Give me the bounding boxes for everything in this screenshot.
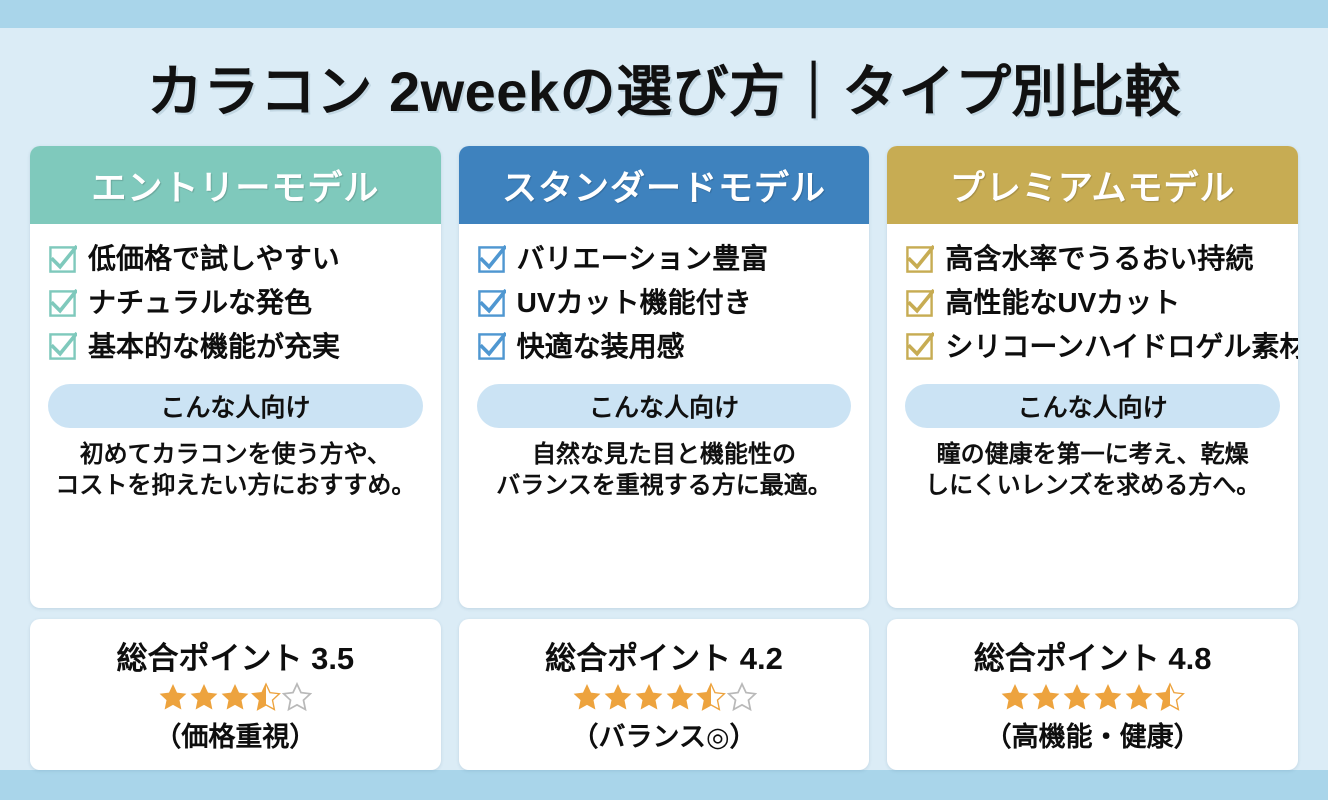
- model-card-body: バリエーション豊富UVカット機能付き快適な装用感こんな人向け自然な見た目と機能性…: [459, 224, 870, 608]
- audience-pill-label: こんな人向け: [589, 388, 739, 424]
- feature-item: 低価格で試しやすい: [48, 244, 423, 275]
- model-card-title: スタンダードモデル: [502, 160, 826, 211]
- checkbox-checked-icon: [48, 332, 77, 361]
- star-icon-full: [634, 682, 664, 712]
- checkbox-checked-icon: [477, 245, 506, 274]
- star-rating: [469, 682, 860, 712]
- star-icon-full: [1124, 682, 1154, 712]
- audience-description-line: 初めてカラコンを使う方や、: [48, 440, 423, 470]
- star-icon-full: [220, 682, 250, 712]
- poster-inner: カラコン 2weekの選び方｜タイプ別比較 エントリーモデル低価格で試しやすいナ…: [0, 28, 1328, 770]
- checkbox-checked-icon: [48, 289, 77, 318]
- star-icon-full: [572, 682, 602, 712]
- score-title: 総合ポイント 4.2: [469, 633, 860, 678]
- model-card[interactable]: エントリーモデル低価格で試しやすいナチュラルな発色基本的な機能が充実こんな人向け…: [30, 146, 441, 608]
- checkbox-checked-icon: [477, 289, 506, 318]
- page-title: カラコン 2weekの選び方｜タイプ別比較: [147, 47, 1181, 128]
- feature-label: シリコーンハイドロゲル素材: [945, 332, 1298, 363]
- feature-list: バリエーション豊富UVカット機能付き快適な装用感: [477, 244, 852, 362]
- model-card-header: プレミアムモデル: [887, 146, 1298, 224]
- model-card[interactable]: スタンダードモデルバリエーション豊富UVカット機能付き快適な装用感こんな人向け自…: [459, 146, 870, 608]
- model-card-title: プレミアムモデル: [950, 160, 1236, 211]
- audience-description-line: 瞳の健康を第一に考え、乾燥: [905, 440, 1280, 470]
- checkbox-checked-icon: [477, 332, 506, 361]
- feature-item: 高含水率でうるおい持続: [905, 244, 1280, 275]
- audience-description: 瞳の健康を第一に考え、乾燥しにくいレンズを求める方へ。: [905, 440, 1280, 500]
- audience-description-line: コストを抑えたい方におすすめ。: [48, 471, 423, 501]
- score-note: （価格重視）: [40, 715, 431, 754]
- feature-list: 高含水率でうるおい持続高性能なUVカットシリコーンハイドロゲル素材: [905, 244, 1280, 362]
- feature-item: シリコーンハイドロゲル素材: [905, 332, 1280, 363]
- star-icon-full: [1062, 682, 1092, 712]
- audience-pill: こんな人向け: [48, 384, 423, 428]
- feature-item: バリエーション豊富: [477, 244, 852, 275]
- audience-description-line: 自然な見た目と機能性の: [477, 440, 852, 470]
- comparison-column-1: エントリーモデル低価格で試しやすいナチュラルな発色基本的な機能が充実こんな人向け…: [30, 146, 441, 770]
- audience-description-line: バランスを重視する方に最適。: [477, 471, 852, 501]
- feature-item: 基本的な機能が充実: [48, 332, 423, 363]
- star-rating: [897, 682, 1288, 712]
- score-card[interactable]: 総合ポイント 4.2（バランス◎）: [459, 619, 870, 770]
- feature-label: バリエーション豊富: [517, 244, 768, 275]
- model-card-body: 高含水率でうるおい持続高性能なUVカットシリコーンハイドロゲル素材こんな人向け瞳…: [887, 224, 1298, 608]
- checkbox-checked-icon: [48, 245, 77, 274]
- feature-label: 高含水率でうるおい持続: [945, 244, 1253, 275]
- audience-pill: こんな人向け: [905, 384, 1280, 428]
- star-icon-empty: [727, 682, 757, 712]
- comparison-column-3: プレミアムモデル高含水率でうるおい持続高性能なUVカットシリコーンハイドロゲル素…: [887, 146, 1298, 770]
- checkbox-checked-icon: [905, 289, 934, 318]
- star-icon-full: [1000, 682, 1030, 712]
- audience-pill-label: こんな人向け: [160, 388, 310, 424]
- model-card-header: エントリーモデル: [30, 146, 441, 224]
- star-icon-empty: [282, 682, 312, 712]
- checkbox-checked-icon: [905, 245, 934, 274]
- star-icon-full: [1093, 682, 1123, 712]
- feature-label: 高性能なUVカット: [945, 288, 1180, 319]
- score-title: 総合ポイント 4.8: [897, 633, 1288, 678]
- infographic-poster: カラコン 2weekの選び方｜タイプ別比較 エントリーモデル低価格で試しやすいナ…: [0, 0, 1328, 800]
- audience-pill-label: こんな人向け: [1018, 388, 1168, 424]
- score-card[interactable]: 総合ポイント 4.8（高機能・健康）: [887, 619, 1298, 770]
- feature-label: ナチュラルな発色: [88, 288, 312, 319]
- feature-label: 低価格で試しやすい: [88, 244, 340, 275]
- star-icon-half: [696, 682, 726, 712]
- model-card-body: 低価格で試しやすいナチュラルな発色基本的な機能が充実こんな人向け初めてカラコンを…: [30, 224, 441, 608]
- star-rating: [40, 682, 431, 712]
- star-icon-full: [1031, 682, 1061, 712]
- star-icon-full: [189, 682, 219, 712]
- star-icon-half: [251, 682, 281, 712]
- feature-label: UVカット機能付き: [517, 288, 752, 319]
- checkbox-checked-icon: [905, 332, 934, 361]
- feature-label: 快適な装用感: [517, 332, 685, 363]
- feature-list: 低価格で試しやすいナチュラルな発色基本的な機能が充実: [48, 244, 423, 362]
- model-card-title: エントリーモデル: [91, 160, 379, 211]
- score-title: 総合ポイント 3.5: [40, 633, 431, 678]
- model-card[interactable]: プレミアムモデル高含水率でうるおい持続高性能なUVカットシリコーンハイドロゲル素…: [887, 146, 1298, 608]
- audience-description-line: しにくいレンズを求める方へ。: [905, 471, 1280, 501]
- model-card-header: スタンダードモデル: [459, 146, 870, 224]
- feature-item: 快適な装用感: [477, 332, 852, 363]
- audience-pill: こんな人向け: [477, 384, 852, 428]
- feature-item: 高性能なUVカット: [905, 288, 1280, 319]
- star-icon-full: [665, 682, 695, 712]
- feature-label: 基本的な機能が充実: [88, 332, 340, 363]
- star-icon-full: [603, 682, 633, 712]
- star-icon-full: [158, 682, 188, 712]
- feature-item: UVカット機能付き: [477, 288, 852, 319]
- comparison-column-2: スタンダードモデルバリエーション豊富UVカット機能付き快適な装用感こんな人向け自…: [459, 146, 870, 770]
- score-note: （高機能・健康）: [897, 715, 1288, 754]
- score-card[interactable]: 総合ポイント 3.5（価格重視）: [30, 619, 441, 770]
- audience-description: 自然な見た目と機能性のバランスを重視する方に最適。: [477, 440, 852, 500]
- page-title-wrap: カラコン 2weekの選び方｜タイプ別比較: [30, 28, 1298, 146]
- audience-description: 初めてカラコンを使う方や、コストを抑えたい方におすすめ。: [48, 440, 423, 500]
- feature-item: ナチュラルな発色: [48, 288, 423, 319]
- star-icon-half: [1155, 682, 1185, 712]
- comparison-columns: エントリーモデル低価格で試しやすいナチュラルな発色基本的な機能が充実こんな人向け…: [30, 146, 1298, 770]
- score-note: （バランス◎）: [469, 715, 860, 754]
